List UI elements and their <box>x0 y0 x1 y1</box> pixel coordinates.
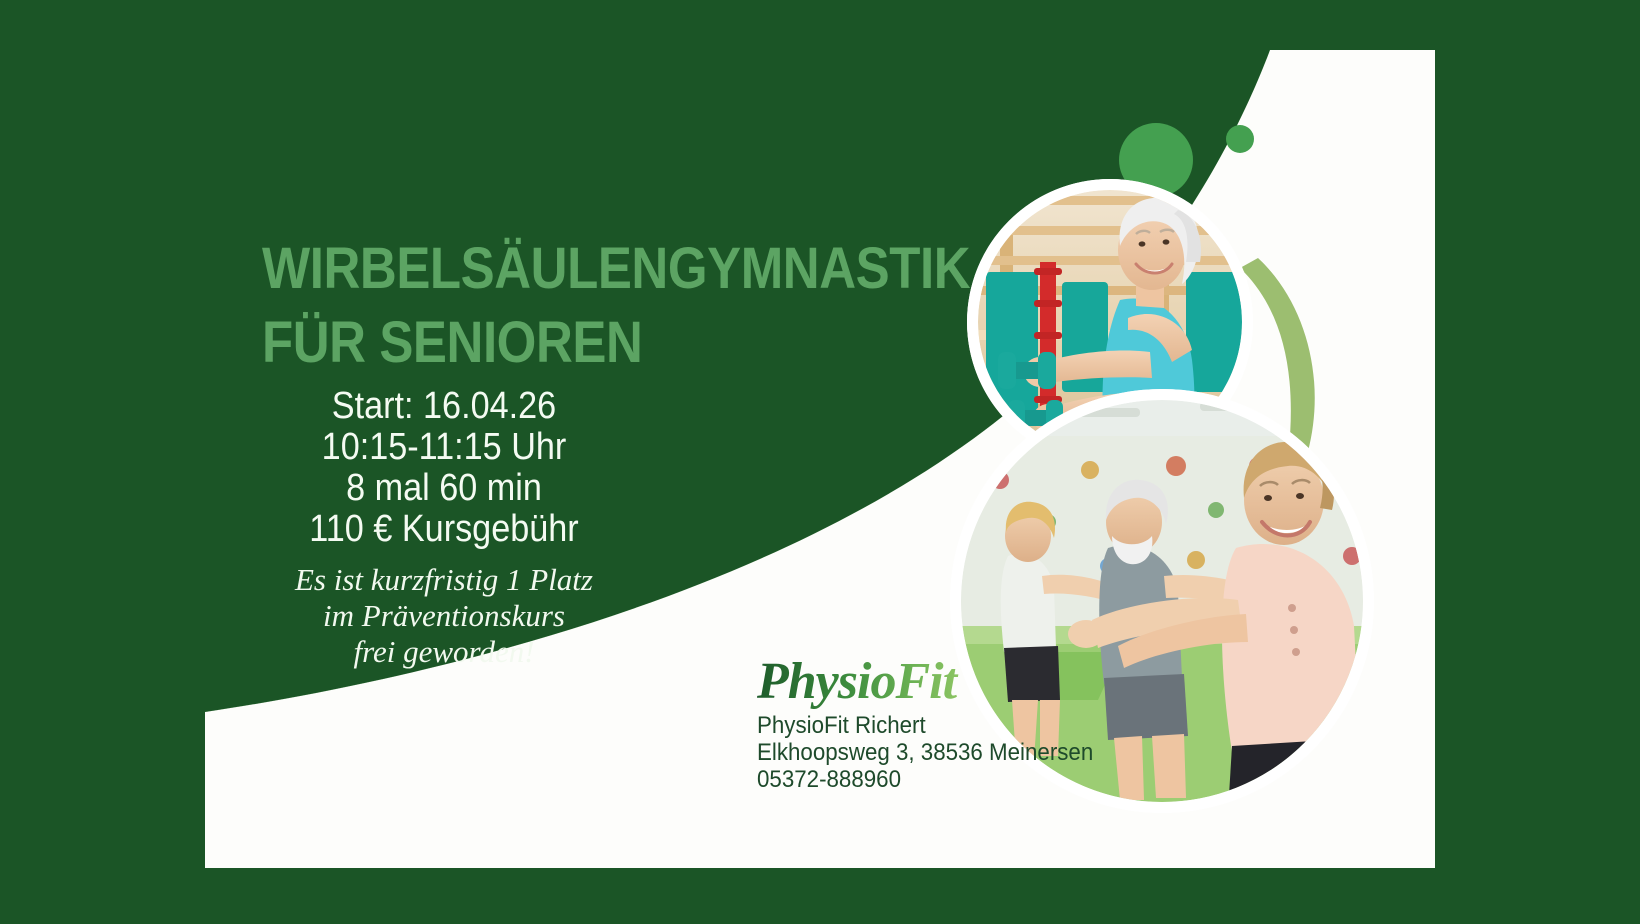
headline-line-1: WIRBELSÄULENGYMNASTIK <box>262 236 970 301</box>
contact-phone: 05372-888960 <box>757 766 1093 793</box>
headline-line-2: FÜR SENIOREN <box>262 310 642 375</box>
detail-sessions: 8 mal 60 min <box>277 468 612 508</box>
detail-price: 110 € Kursgebühr <box>277 509 612 549</box>
page-title: WIRBELSÄULENGYMNASTIKFÜR SENIOREN <box>262 232 913 380</box>
availability-note: Es ist kurzfristig 1 Platz im Prävention… <box>252 562 636 670</box>
contact-name: PhysioFit Richert <box>757 712 1093 739</box>
detail-time: 10:15-11:15 Uhr <box>277 427 612 467</box>
course-details: Start: 16.04.26 10:15-11:15 Uhr 8 mal 60… <box>277 386 612 550</box>
note-line-2: im Präventionskurs <box>252 598 636 634</box>
contact-street: Elkhoopsweg 3, 38536 Meinersen <box>757 739 1093 766</box>
physiofit-logo-text: PhysioFit <box>757 653 959 710</box>
physiofit-logo: PhysioFit <box>757 652 977 714</box>
physiofit-logo-mark: PhysioFit <box>757 652 977 714</box>
poster-canvas: WIRBELSÄULENGYMNASTIKFÜR SENIOREN Start:… <box>0 0 1640 924</box>
note-line-3: frei geworden! <box>252 634 636 670</box>
detail-start-date: Start: 16.04.26 <box>277 386 612 426</box>
contact-block: PhysioFit Richert Elkhoopsweg 3, 38536 M… <box>757 712 1093 793</box>
note-line-1: Es ist kurzfristig 1 Platz <box>252 562 636 598</box>
decor-dot-small <box>1226 125 1254 153</box>
